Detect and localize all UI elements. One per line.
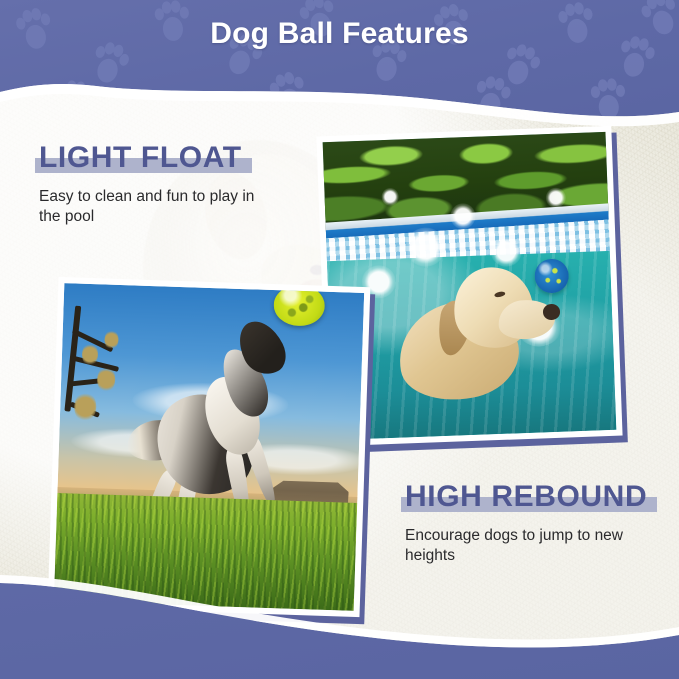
swimming-labrador [395, 265, 558, 402]
photo-jumping-collie [48, 277, 371, 617]
feature-heading-wrap: LIGHT FLOAT [39, 142, 242, 174]
water-splash [381, 187, 399, 205]
feature-heading-high-rebound: HIGH REBOUND [405, 481, 647, 513]
field-scene [54, 283, 364, 611]
feature-heading-wrap: HIGH REBOUND [405, 481, 647, 513]
feature-body-light-float: Easy to clean and fun to play in the poo… [39, 187, 269, 228]
infographic-canvas: Dog Ball Features [0, 0, 679, 679]
feature-high-rebound: HIGH REBOUND Encourage dogs to jump to n… [405, 481, 647, 566]
page-title: Dog Ball Features [0, 17, 679, 51]
feature-heading-light-float: LIGHT FLOAT [39, 142, 242, 174]
feature-body-high-rebound: Encourage dogs to jump to new heights [405, 526, 635, 567]
footer-band [0, 569, 679, 679]
feature-light-float: LIGHT FLOAT Easy to clean and fun to pla… [39, 142, 269, 227]
